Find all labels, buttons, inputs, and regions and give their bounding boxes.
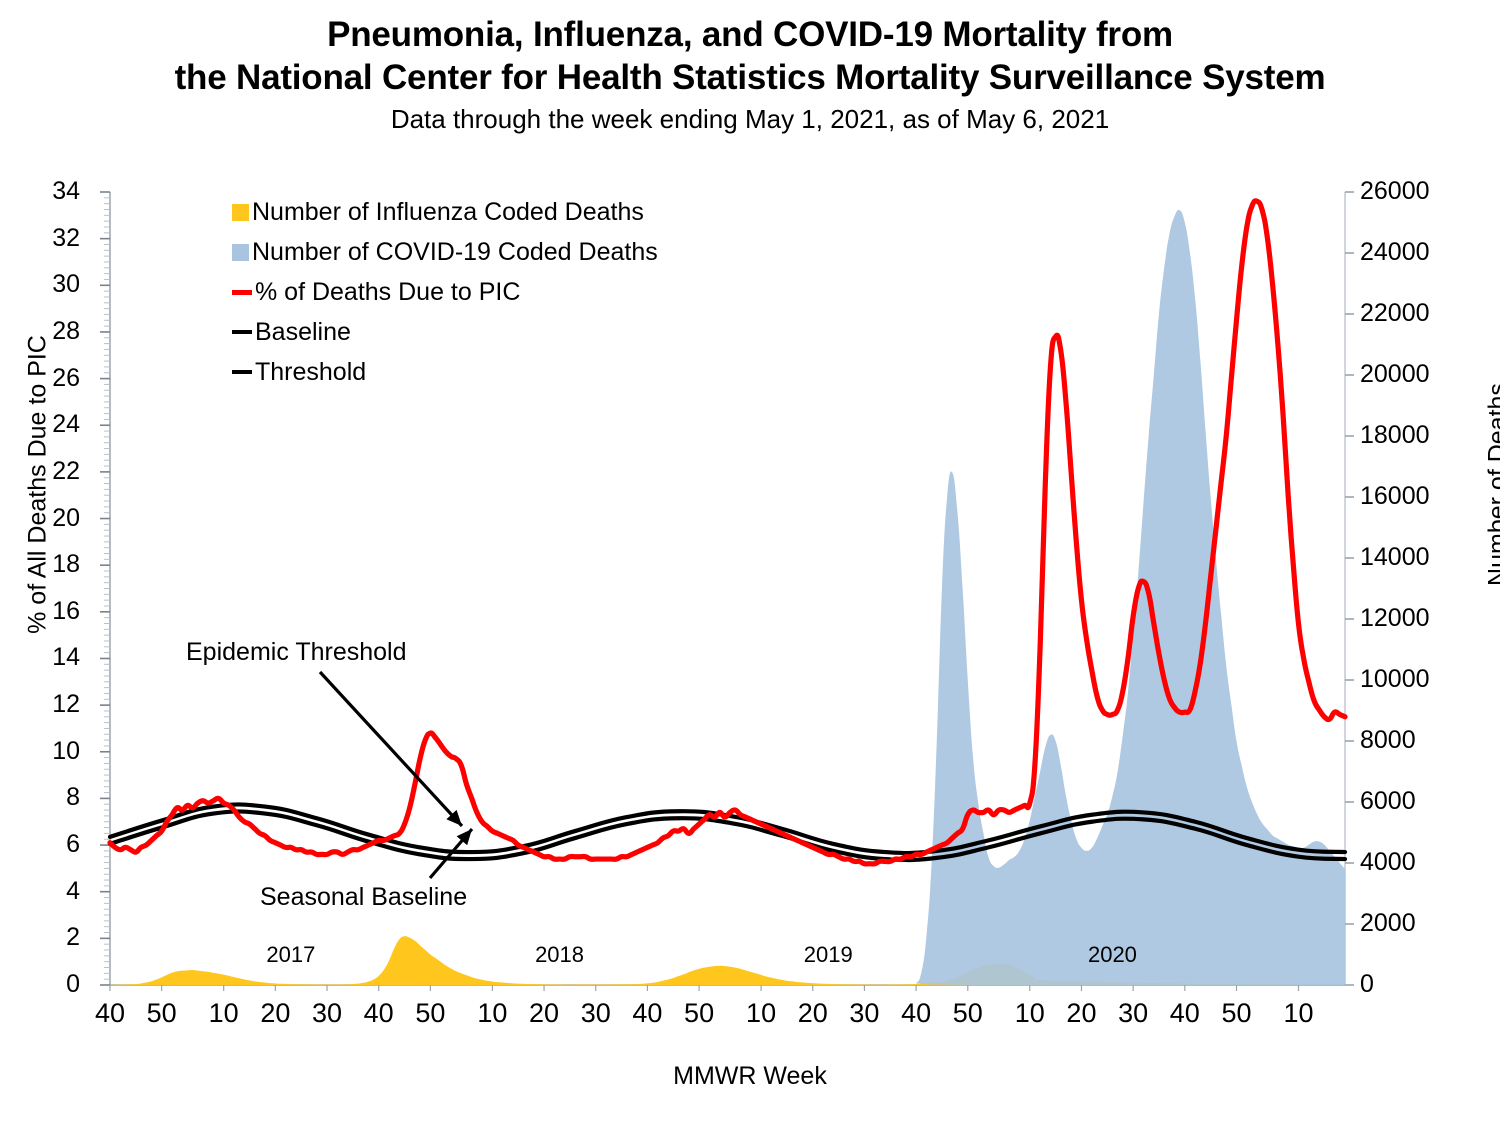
y-tick-right-26000: 26000 xyxy=(1360,179,1470,204)
y-tick-left-22: 22 xyxy=(20,459,80,484)
legend-label: Number of COVID-19 Coded Deaths xyxy=(252,240,658,265)
y-tick-right-2000: 2000 xyxy=(1360,911,1470,936)
y-tick-right-12000: 12000 xyxy=(1360,606,1470,631)
y-tick-right-18000: 18000 xyxy=(1360,423,1470,448)
legend-line-icon xyxy=(232,330,252,334)
y-tick-right-8000: 8000 xyxy=(1360,728,1470,753)
legend-item-0[interactable]: Number of Influenza Coded Deaths xyxy=(232,192,658,232)
legend-label: Number of Influenza Coded Deaths xyxy=(252,200,644,225)
year-label-2018: 2018 xyxy=(500,944,620,966)
year-label-2019: 2019 xyxy=(768,944,888,966)
y-tick-left-20: 20 xyxy=(20,506,80,531)
x-tick-21: 50 xyxy=(1206,1000,1266,1027)
legend-label: Threshold xyxy=(255,360,366,385)
legend-line-icon xyxy=(232,290,252,295)
legend-item-4[interactable]: Threshold xyxy=(232,352,658,392)
y-tick-left-12: 12 xyxy=(20,692,80,717)
legend-line-icon xyxy=(232,370,252,374)
x-axis-title: MMWR Week xyxy=(0,1062,1500,1091)
y-tick-right-6000: 6000 xyxy=(1360,789,1470,814)
x-tick-16: 50 xyxy=(938,1000,998,1027)
y-tick-right-20000: 20000 xyxy=(1360,362,1470,387)
y-tick-left-8: 8 xyxy=(20,785,80,810)
y-tick-right-14000: 14000 xyxy=(1360,545,1470,570)
y-tick-right-0: 0 xyxy=(1360,972,1470,997)
legend-item-1[interactable]: Number of COVID-19 Coded Deaths xyxy=(232,232,658,272)
annotation-epidemic-threshold: Epidemic Threshold xyxy=(186,640,406,665)
y-tick-left-32: 32 xyxy=(20,226,80,251)
legend-swatch-icon xyxy=(232,244,249,261)
chart-root: Pneumonia, Influenza, and COVID-19 Morta… xyxy=(0,0,1500,1125)
y-tick-left-4: 4 xyxy=(20,879,80,904)
y-tick-right-16000: 16000 xyxy=(1360,484,1470,509)
x-tick-1: 50 xyxy=(132,1000,192,1027)
y-tick-left-34: 34 xyxy=(20,179,80,204)
y-tick-right-24000: 24000 xyxy=(1360,240,1470,265)
y-tick-left-30: 30 xyxy=(20,272,80,297)
y-tick-right-10000: 10000 xyxy=(1360,667,1470,692)
legend-label: Baseline xyxy=(255,320,351,345)
y-axis-right-title: Number of Deaths xyxy=(1484,275,1500,695)
annotation-seasonal-baseline: Seasonal Baseline xyxy=(260,885,467,910)
legend-label: % of Deaths Due to PIC xyxy=(255,280,520,305)
chart-legend: Number of Influenza Coded DeathsNumber o… xyxy=(232,192,658,392)
x-tick-11: 50 xyxy=(669,1000,729,1027)
y-tick-left-14: 14 xyxy=(20,645,80,670)
x-tick-22: 10 xyxy=(1268,1000,1328,1027)
y-tick-left-16: 16 xyxy=(20,599,80,624)
legend-item-2[interactable]: % of Deaths Due to PIC xyxy=(232,272,658,312)
y-tick-right-22000: 22000 xyxy=(1360,301,1470,326)
y-tick-right-4000: 4000 xyxy=(1360,850,1470,875)
x-tick-6: 50 xyxy=(400,1000,460,1027)
x-axis-ticks: 4050102030405010203040501020304050102030… xyxy=(0,1000,1500,1040)
legend-swatch-icon xyxy=(232,204,249,221)
legend-item-3[interactable]: Baseline xyxy=(232,312,658,352)
y-tick-left-26: 26 xyxy=(20,366,80,391)
y-tick-left-24: 24 xyxy=(20,412,80,437)
year-label-2017: 2017 xyxy=(231,944,351,966)
y-tick-left-0: 0 xyxy=(20,972,80,997)
year-label-2020: 2020 xyxy=(1052,944,1172,966)
year-labels: 2017201820192020 xyxy=(0,944,1500,974)
y-tick-left-28: 28 xyxy=(20,319,80,344)
y-tick-left-10: 10 xyxy=(20,739,80,764)
y-tick-left-6: 6 xyxy=(20,832,80,857)
y-tick-left-18: 18 xyxy=(20,552,80,577)
